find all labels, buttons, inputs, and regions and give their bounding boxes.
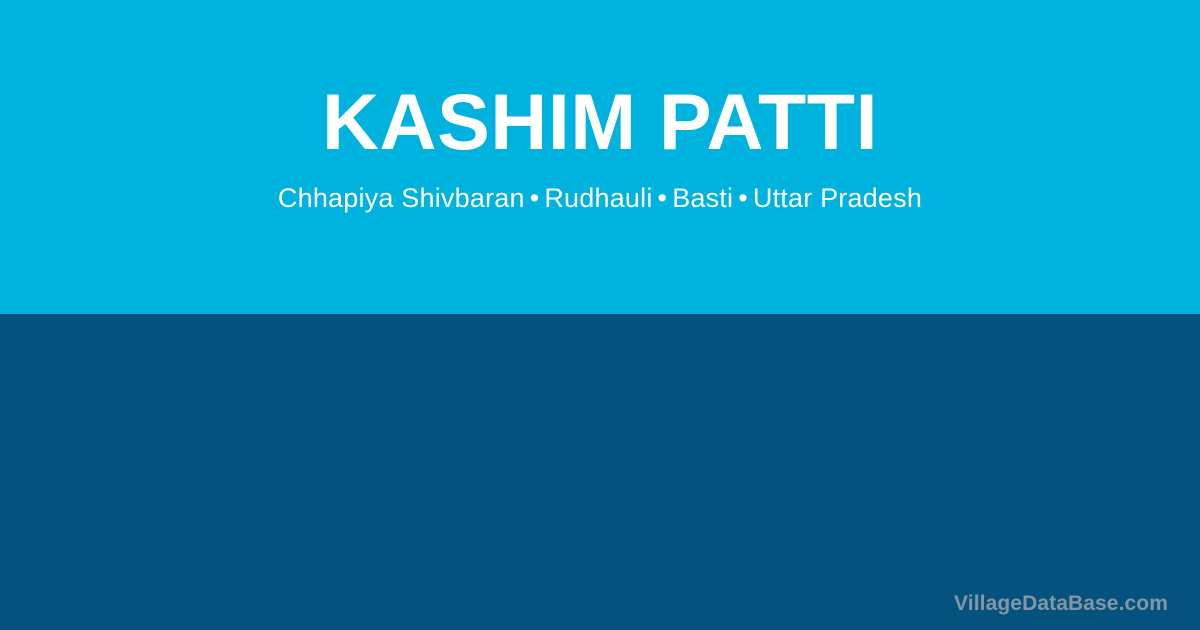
breadcrumb: Chhapiya Shivbaran•Rudhauli•Basti•Uttar … bbox=[278, 183, 922, 214]
breadcrumb-separator-2: • bbox=[653, 183, 673, 214]
breadcrumb-item-block: Rudhauli bbox=[544, 183, 652, 213]
breadcrumb-separator-1: • bbox=[525, 183, 545, 214]
breadcrumb-item-state: Uttar Pradesh bbox=[753, 183, 922, 213]
hero-band: KASHIM PATTI Chhapiya Shivbaran•Rudhauli… bbox=[0, 0, 1200, 314]
breadcrumb-separator-3: • bbox=[733, 183, 753, 214]
breadcrumb-item-village: Chhapiya Shivbaran bbox=[278, 183, 525, 213]
site-watermark: VillageDataBase.com bbox=[954, 591, 1168, 616]
village-info-card: KASHIM PATTI Chhapiya Shivbaran•Rudhauli… bbox=[0, 0, 1200, 630]
detail-band: Town: Basti (15 km) VillageDataBase.com bbox=[0, 314, 1200, 630]
breadcrumb-item-district: Basti bbox=[672, 183, 733, 213]
page-title: KASHIM PATTI bbox=[322, 82, 878, 161]
